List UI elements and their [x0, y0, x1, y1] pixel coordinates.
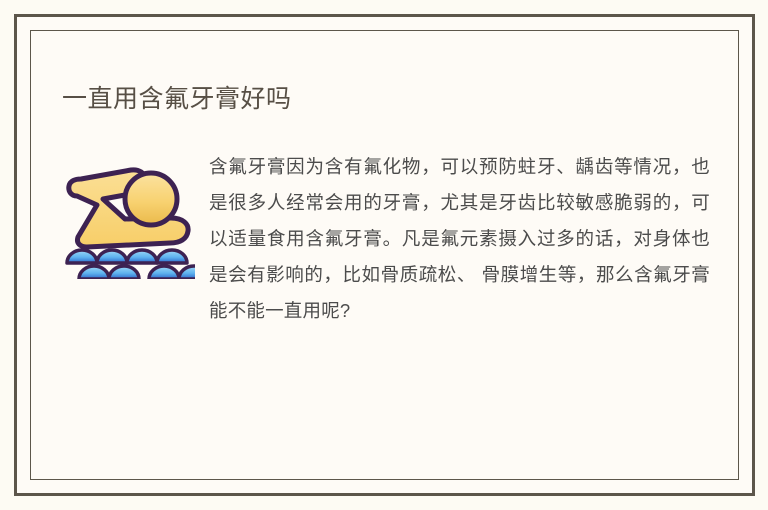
article-text-column: 含氟牙膏因为含有氟化物，可以预防蛀牙、龋齿等情况，也是很多人经常会用的牙膏，尤其… — [209, 149, 720, 329]
swimmer-icon — [63, 161, 195, 279]
article-body-row: 含氟牙膏因为含有氟化物，可以预防蛀牙、龋齿等情况，也是很多人经常会用的牙膏，尤其… — [49, 149, 720, 329]
page-title: 一直用含氟牙膏好吗 — [62, 83, 292, 115]
wave-row-top — [67, 250, 187, 263]
illustration-column — [49, 149, 209, 279]
page-root: 一直用含氟牙膏好吗 — [0, 0, 768, 510]
outer-border-frame: 一直用含氟牙膏好吗 — [14, 14, 755, 496]
wave-row-bottom — [79, 266, 195, 279]
inner-border-frame: 一直用含氟牙膏好吗 — [30, 30, 739, 480]
article-body-text: 含氟牙膏因为含有氟化物，可以预防蛀牙、龋齿等情况，也是很多人经常会用的牙膏，尤其… — [209, 149, 710, 329]
swimmer-head-shape — [125, 173, 177, 225]
article-content: 一直用含氟牙膏好吗 — [31, 31, 738, 479]
